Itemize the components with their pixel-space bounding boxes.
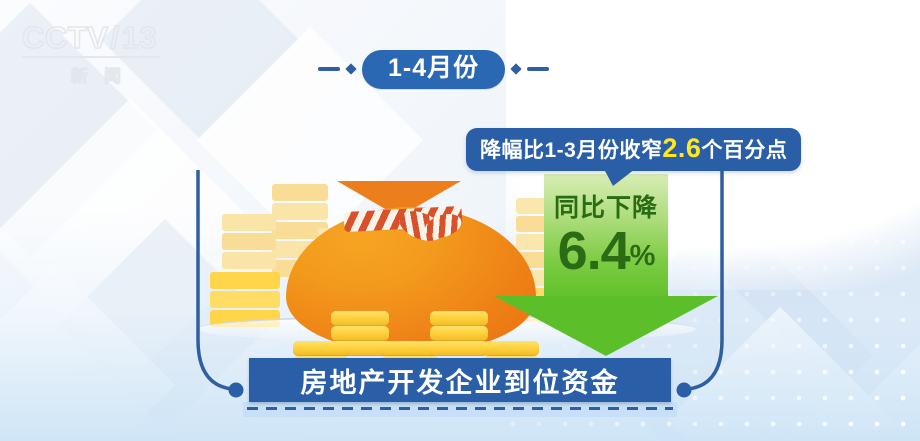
callout-bubble: 降幅比1-3月份收窄2.6个百分点: [466, 128, 801, 171]
bg-gold-bar: [272, 203, 328, 220]
coin-stack-item: [331, 311, 389, 326]
decline-arrow: 同比下降 6.4%: [494, 174, 718, 356]
callout-suffix: 个百分点: [701, 139, 787, 162]
coin-stack-item: [430, 311, 488, 326]
decorative-bracket-left: [180, 170, 250, 410]
arrow-unit: %: [630, 240, 655, 272]
infographic-canvas: CCTV/13 新闻 1-4月份: [0, 0, 920, 441]
caption-dashed-rule: [247, 407, 673, 410]
coin-stack-item: [430, 341, 488, 356]
coin-stack-item: [293, 341, 349, 356]
arrow-value-row: 6.4%: [494, 226, 718, 277]
arrow-value: 6.4: [558, 221, 630, 281]
callout-prefix: 降幅比1-3月份收窄: [480, 139, 662, 162]
caption-text: 房地产开发企业到位资金: [301, 361, 620, 400]
caption-bar: 房地产开发企业到位资金: [249, 358, 671, 402]
coin-stack-item: [430, 326, 488, 341]
coin-stack-item: [331, 326, 389, 341]
arrow-label: 同比下降: [494, 188, 718, 224]
arrow-text-block: 同比下降 6.4%: [494, 174, 718, 277]
arrow-head-down-icon: [494, 296, 718, 356]
bg-gold-bar: [272, 184, 328, 201]
callout-highlight-value: 2.6: [662, 133, 701, 163]
